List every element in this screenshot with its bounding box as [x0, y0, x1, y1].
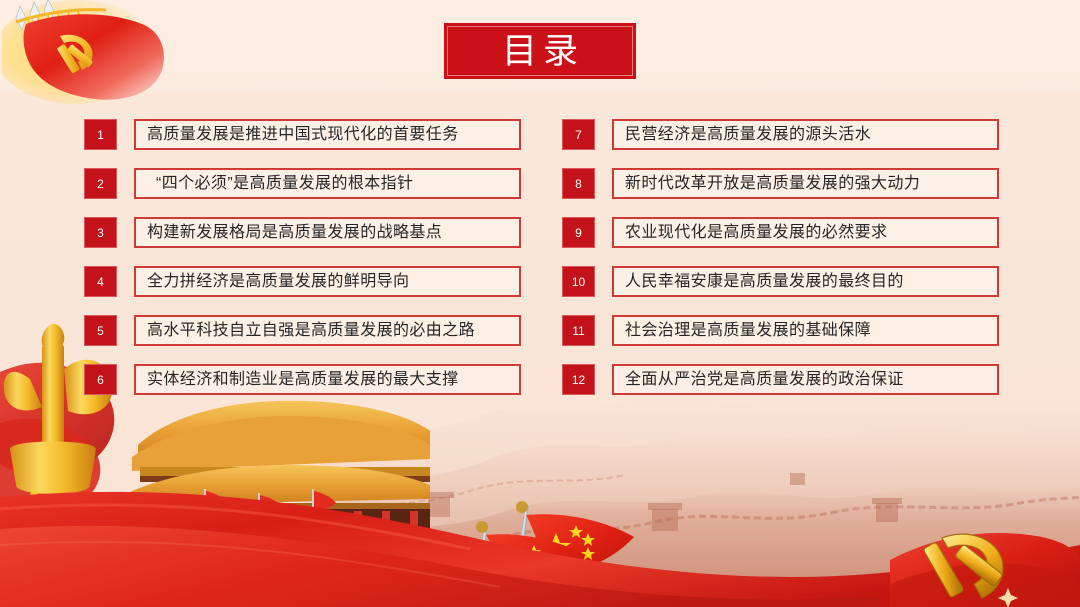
- toc-item-box[interactable]: 全力拼经济是高质量发展的鲜明导向: [134, 266, 521, 297]
- toc-item-box[interactable]: 新时代改革开放是高质量发展的强大动力: [612, 168, 999, 199]
- toc-number-badge: 8: [562, 168, 595, 199]
- toc-number-badge: 4: [84, 266, 117, 297]
- toc-item-box[interactable]: 民营经济是高质量发展的源头活水: [612, 119, 999, 150]
- toc-item-label: 高水平科技自立自强是高质量发展的必由之路: [147, 323, 475, 339]
- toc-item-box[interactable]: 农业现代化是高质量发展的必然要求: [612, 217, 999, 248]
- toc-item-box[interactable]: 全面从严治党是高质量发展的政治保证: [612, 364, 999, 395]
- toc-item-box[interactable]: 社会治理是高质量发展的基础保障: [612, 315, 999, 346]
- toc-number-badge: 1: [84, 119, 117, 150]
- toc-number-badge: 9: [562, 217, 595, 248]
- toc-item-box[interactable]: 实体经济和制造业是高质量发展的最大支撑: [134, 364, 521, 395]
- toc-item-box[interactable]: “四个必须”是高质量发展的根本指针: [134, 168, 521, 199]
- toc-item-label: 人民幸福安康是高质量发展的最终目的: [625, 274, 904, 290]
- toc-number-badge: 6: [84, 364, 117, 395]
- toc-item-label: 构建新发展格局是高质量发展的战略基点: [147, 225, 442, 241]
- toc-item-label: “四个必须”是高质量发展的根本指针: [147, 176, 413, 192]
- toc-item-box[interactable]: 人民幸福安康是高质量发展的最终目的: [612, 266, 999, 297]
- toc-number-badge: 7: [562, 119, 595, 150]
- slide-root: 目录 1 高质量发展是推进中国式现代化的首要任务 2 “四个必须”是高质量发展的…: [0, 0, 1080, 607]
- toc-item-label: 实体经济和制造业是高质量发展的最大支撑: [147, 372, 459, 388]
- toc-item-box[interactable]: 高质量发展是推进中国式现代化的首要任务: [134, 119, 521, 150]
- toc-number-badge: 5: [84, 315, 117, 346]
- toc-item-box[interactable]: 高水平科技自立自强是高质量发展的必由之路: [134, 315, 521, 346]
- toc-number-badge: 12: [562, 364, 595, 395]
- toc-item-box[interactable]: 构建新发展格局是高质量发展的战略基点: [134, 217, 521, 248]
- toc-item-label: 民营经济是高质量发展的源头活水: [625, 127, 871, 143]
- toc-item-label: 全力拼经济是高质量发展的鲜明导向: [147, 274, 409, 290]
- toc-item-label: 社会治理是高质量发展的基础保障: [625, 323, 871, 339]
- table-of-contents: 1 高质量发展是推进中国式现代化的首要任务 2 “四个必须”是高质量发展的根本指…: [0, 0, 1080, 607]
- toc-number-badge: 2: [84, 168, 117, 199]
- toc-item-label: 新时代改革开放是高质量发展的强大动力: [625, 176, 920, 192]
- toc-item-label: 全面从严治党是高质量发展的政治保证: [625, 372, 904, 388]
- toc-item-label: 农业现代化是高质量发展的必然要求: [625, 225, 887, 241]
- toc-number-badge: 10: [562, 266, 595, 297]
- slide-content: 目录 1 高质量发展是推进中国式现代化的首要任务 2 “四个必须”是高质量发展的…: [0, 0, 1080, 607]
- toc-number-badge: 11: [562, 315, 595, 346]
- toc-item-label: 高质量发展是推进中国式现代化的首要任务: [147, 127, 459, 143]
- toc-number-badge: 3: [84, 217, 117, 248]
